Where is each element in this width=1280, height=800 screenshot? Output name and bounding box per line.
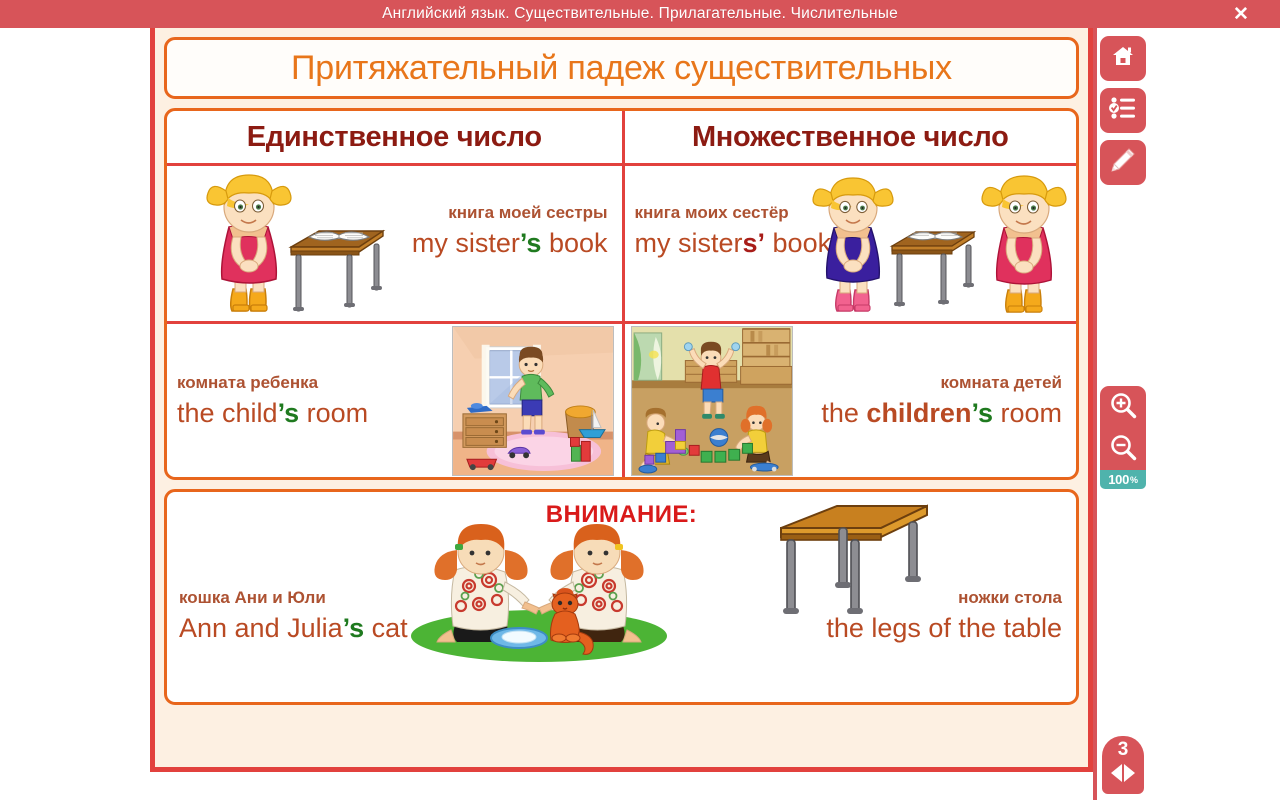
zoom-percent-sign: %	[1130, 475, 1138, 485]
slide-canvas: Притяжательный падеж существительных Еди…	[150, 28, 1093, 772]
prev-page-icon[interactable]	[1111, 764, 1122, 782]
caption-ru: книга моей сестры	[448, 202, 607, 223]
column-header-plural: Множественное число	[622, 111, 1077, 163]
caption-ru: ножки стола	[958, 587, 1062, 608]
caption-ru: книга моих сестёр	[635, 202, 789, 223]
number-table: Единственное число Множественное число	[164, 108, 1079, 480]
window-title: Английский язык. Существительные. Прилаг…	[382, 5, 898, 23]
zoom-in-icon	[1109, 391, 1137, 424]
caption-ru: комната детей	[941, 372, 1063, 393]
zoom-level-value: 100	[1108, 472, 1129, 487]
childs-room-photo	[452, 326, 614, 476]
two-girls-with-book-table-illustration	[812, 170, 1072, 320]
caption-child-plural: комната детей the children’s room	[821, 372, 1062, 431]
two-girls-with-cat-illustration	[399, 514, 679, 664]
table-row: книга моей сестры my sister’s book книга…	[167, 166, 1076, 324]
possessive-marker: ’s	[971, 398, 993, 428]
possessive-marker: ’s	[278, 398, 300, 428]
caption-ru: комната ребенка	[177, 372, 318, 393]
checklist-icon	[1109, 96, 1137, 125]
caption-en: the legs of the table	[826, 611, 1062, 646]
pencil-icon	[1109, 146, 1137, 179]
home-icon	[1110, 43, 1136, 74]
table-row: комната ребенка the child’s room	[167, 324, 1076, 477]
zoom-in-button[interactable]	[1100, 386, 1146, 428]
zoom-out-button[interactable]	[1100, 428, 1146, 470]
caption-en: my sisters’ book	[635, 226, 832, 261]
zoom-level-badge[interactable]: 100%	[1100, 470, 1146, 489]
cell-child-singular: комната ребенка the child’s room	[167, 324, 622, 477]
checklist-button[interactable]	[1100, 88, 1146, 133]
table-header-row: Единственное число Множественное число	[167, 111, 1076, 166]
childrens-room-photo	[631, 326, 793, 476]
next-page-icon[interactable]	[1124, 764, 1135, 782]
page-arrows	[1111, 764, 1135, 782]
window-titlebar: Английский язык. Существительные. Прилаг…	[0, 0, 1280, 28]
caption-sister-singular: книга моей сестры my sister’s book	[412, 202, 608, 261]
possessive-marker: ’s	[343, 613, 365, 643]
cell-child-plural: комната детей the children’s room	[622, 324, 1077, 477]
noun-highlight: children	[866, 398, 971, 428]
close-icon[interactable]: ✕	[1224, 0, 1258, 28]
cell-sister-singular: книга моей сестры my sister’s book	[167, 166, 622, 321]
caption-table-legs: ножки стола the legs of the table	[826, 587, 1062, 646]
column-header-singular: Единственное число	[167, 111, 622, 163]
cell-sister-plural: книга моих сестёр my sisters’ book	[622, 166, 1077, 321]
zoom-out-icon	[1109, 433, 1137, 466]
caption-en: my sister’s book	[412, 226, 608, 261]
caption-en: the child’s room	[177, 396, 368, 431]
right-chrome-rail	[1093, 28, 1097, 800]
possessive-marker: s’	[743, 228, 766, 258]
caption-en: Ann and Julia’s cat	[179, 611, 408, 646]
slide-title-panel: Притяжательный падеж существительных	[164, 37, 1079, 99]
notice-panel: ВНИМАНИЕ: кошка Ани и Юли Ann and Julia’…	[164, 489, 1079, 705]
home-button[interactable]	[1100, 36, 1146, 81]
right-toolbar	[1100, 36, 1146, 192]
girl-with-book-table-illustration	[185, 171, 390, 319]
caption-ru: кошка Ани и Юли	[179, 587, 326, 608]
caption-cat: кошка Ани и Юли Ann and Julia’s cat	[179, 587, 408, 646]
possessive-marker: ’s	[520, 228, 542, 258]
pencil-button[interactable]	[1100, 140, 1146, 185]
page-number: 3	[1118, 740, 1129, 759]
page-title: Притяжательный падеж существительных	[291, 49, 952, 88]
page-navigator[interactable]: 3	[1102, 736, 1144, 794]
zoom-controls: 100%	[1100, 386, 1146, 489]
caption-en: the children’s room	[821, 396, 1062, 431]
caption-sister-plural: книга моих сестёр my sisters’ book	[635, 202, 832, 261]
caption-child-singular: комната ребенка the child’s room	[177, 372, 368, 431]
